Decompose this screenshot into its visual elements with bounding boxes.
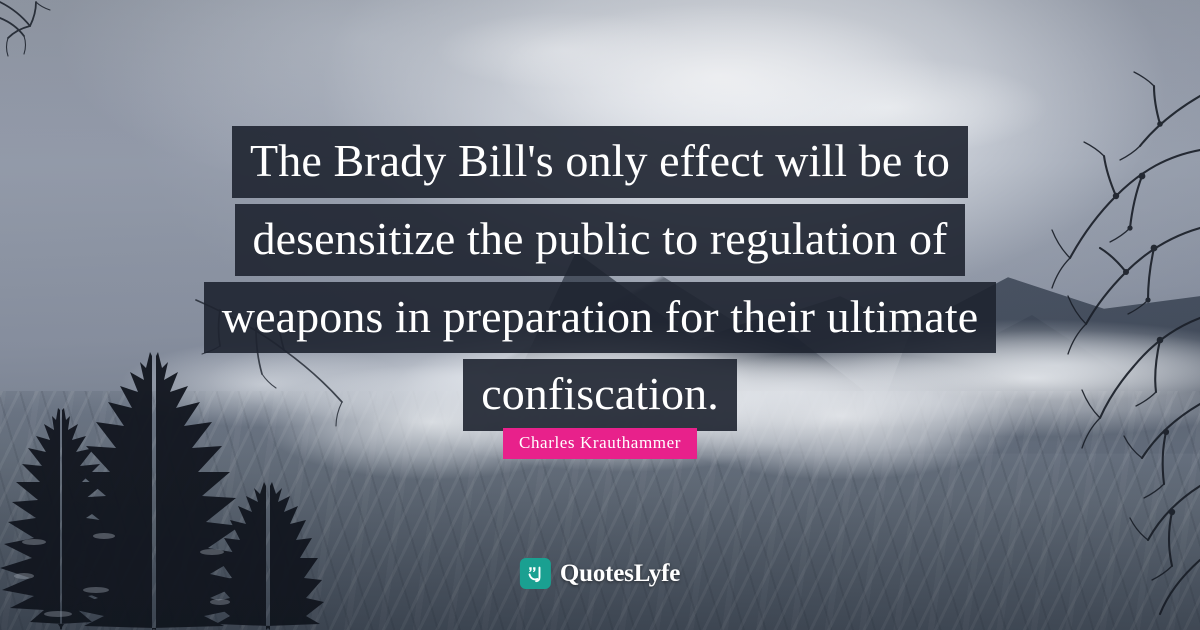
quote-card: The Brady Bill's only effect will be to … xyxy=(0,0,1200,630)
quote-line: confiscation. xyxy=(463,359,737,431)
quote-line: The Brady Bill's only effect will be to xyxy=(232,126,968,198)
quote-line: weapons in preparation for their ultimat… xyxy=(204,282,996,354)
brand-logo[interactable]: QuotesLyfe xyxy=(520,558,680,589)
brand-name: QuotesLyfe xyxy=(560,560,680,588)
quote-text: The Brady Bill's only effect will be to … xyxy=(0,126,1200,431)
quote-smiley-icon xyxy=(520,558,551,589)
quote-line: desensitize the public to regulation of xyxy=(235,204,966,276)
author-badge[interactable]: Charles Krauthammer xyxy=(503,428,697,459)
